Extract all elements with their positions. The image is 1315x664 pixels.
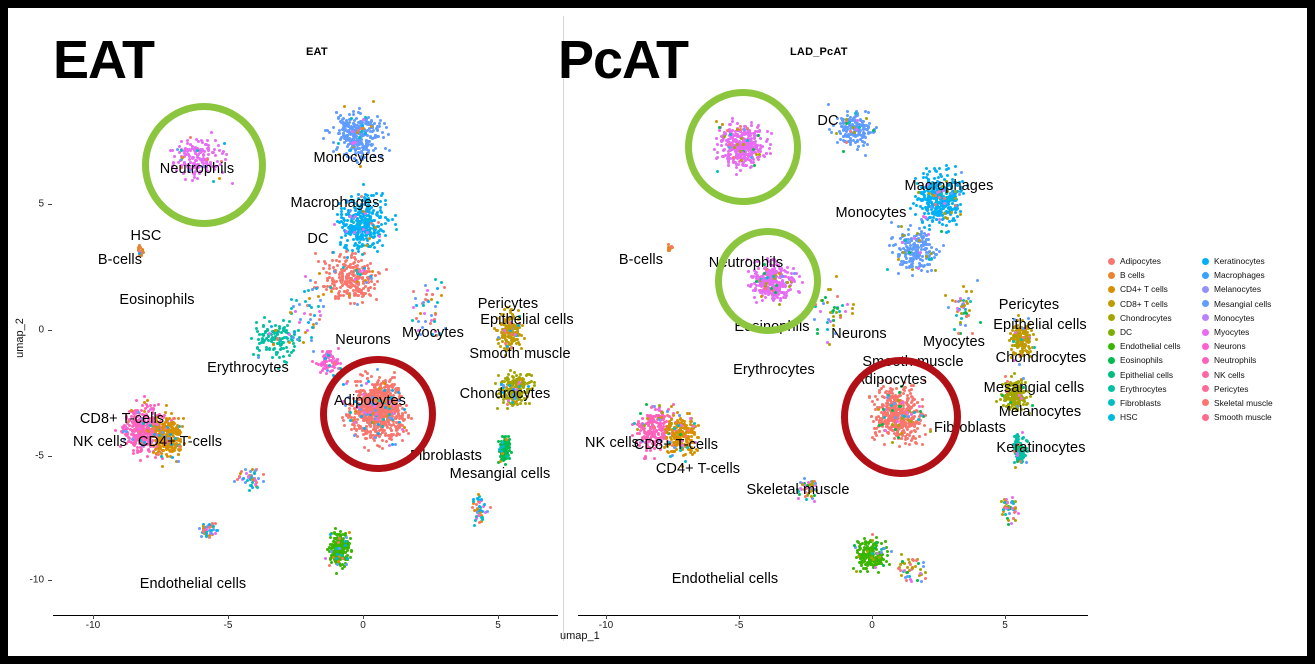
legend-item-label: Melanocytes (1214, 284, 1261, 294)
legend-item[interactable]: B cells (1108, 268, 1206, 282)
legend-item-label: Mesangial cells (1214, 299, 1271, 309)
cell-type-annotation: Smooth muscle (469, 346, 570, 362)
legend-color-dot-icon (1108, 399, 1115, 406)
cell-type-annotation: Pericytes (999, 297, 1060, 313)
legend-item-label: CD4+ T cells (1120, 284, 1168, 294)
panel-pcat-plot-title: LAD_PcAT (790, 46, 848, 58)
legend-item-label: Erythrocytes (1120, 384, 1167, 394)
highlight-circle-neutrophils (142, 103, 266, 227)
cell-type-annotation: B-cells (619, 252, 663, 268)
legend-item[interactable]: CD4+ T cells (1108, 282, 1206, 296)
legend-item-label: CD8+ T cells (1120, 299, 1168, 309)
legend-item-label: Endothelial cells (1120, 341, 1181, 351)
legend-item[interactable]: Adipocytes (1108, 254, 1206, 268)
legend-item[interactable]: Monocytes (1202, 311, 1300, 325)
cell-type-annotation: Chondrocytes (460, 386, 551, 402)
x-axis-title: umap_1 (560, 630, 600, 642)
legend-item[interactable]: Fibroblasts (1108, 396, 1206, 410)
x-tick (739, 615, 740, 619)
cell-type-annotation: Macrophages (905, 178, 994, 194)
legend-item-label: Adipocytes (1120, 256, 1161, 266)
cell-type-annotation: CD8+ T-cells (80, 411, 164, 427)
legend-item[interactable]: DC (1108, 325, 1206, 339)
x-tick (228, 615, 229, 619)
legend-item-label: Chondrocytes (1120, 313, 1172, 323)
x-tick (363, 615, 364, 619)
legend-item[interactable]: Eosinophils (1108, 353, 1206, 367)
x-tick (606, 615, 607, 619)
highlight-circle-adipocytes (320, 356, 436, 472)
legend-item-label: NK cells (1214, 370, 1245, 380)
legend-item-label: Smooth muscle (1214, 412, 1272, 422)
cell-type-annotation: NK cells (73, 434, 127, 450)
cell-type-annotation: Myocytes (923, 334, 985, 350)
y-tick-label: 5 (16, 199, 44, 210)
legend-color-dot-icon (1202, 343, 1209, 350)
legend-column-right: KeratinocytesMacrophagesMelanocytesMesan… (1202, 254, 1300, 424)
legend-item-label: Skeletal muscle (1214, 398, 1273, 408)
cell-type-annotation: Epithelial cells (993, 317, 1086, 333)
pcat-x-axis-line (578, 615, 1088, 616)
legend-item-label: B cells (1120, 270, 1145, 280)
legend-item-label: Neurons (1214, 341, 1246, 351)
cell-type-annotation: CD4+ T-cells (138, 434, 222, 450)
legend-color-dot-icon (1202, 300, 1209, 307)
legend-item[interactable]: Melanocytes (1202, 282, 1300, 296)
legend-item[interactable]: Neutrophils (1202, 353, 1300, 367)
cell-type-annotation: CD8+ T-cells (634, 437, 718, 453)
cell-type-annotation: Erythrocytes (733, 362, 815, 378)
y-tick (48, 330, 52, 331)
cell-type-annotation: Pericytes (478, 296, 539, 312)
legend-item[interactable]: Pericytes (1202, 382, 1300, 396)
x-tick (93, 615, 94, 619)
legend-item-label: Fibroblasts (1120, 398, 1161, 408)
eat-point-cloud (53, 68, 558, 613)
legend-item[interactable]: Skeletal muscle (1202, 396, 1300, 410)
figure-canvas: EAT EAT umap_2 50-5-10 -10-505 Neutrophi… (8, 8, 1307, 656)
eat-x-axis-line (53, 615, 558, 616)
legend-item-label: Neutrophils (1214, 355, 1256, 365)
legend-color-dot-icon (1202, 357, 1209, 364)
x-tick (1005, 615, 1006, 619)
legend-item[interactable]: Smooth muscle (1202, 410, 1300, 424)
legend-item-label: DC (1120, 327, 1132, 337)
legend-item[interactable]: Erythrocytes (1108, 382, 1206, 396)
legend-item[interactable]: NK cells (1202, 368, 1300, 382)
legend-color-dot-icon (1108, 357, 1115, 364)
legend-item[interactable]: Epithelial cells (1108, 368, 1206, 382)
y-tick-label: -10 (16, 575, 44, 586)
legend-color-dot-icon (1202, 258, 1209, 265)
legend-color-dot-icon (1202, 385, 1209, 392)
cell-type-annotation: CD4+ T-cells (656, 461, 740, 477)
x-tick (872, 615, 873, 619)
legend-item[interactable]: HSC (1108, 410, 1206, 424)
legend-item-label: HSC (1120, 412, 1138, 422)
highlight-circle-neutrophils (685, 89, 801, 205)
cell-type-annotation: Epithelial cells (480, 312, 573, 328)
x-tick-label: -5 (224, 620, 233, 631)
legend-item-label: Eosinophils (1120, 355, 1163, 365)
legend-item-label: Monocytes (1214, 313, 1255, 323)
cell-type-annotation: DC (307, 231, 328, 247)
legend-color-dot-icon (1202, 414, 1209, 421)
y-tick (48, 456, 52, 457)
cell-type-annotation: Monocytes (835, 205, 906, 221)
legend-color-dot-icon (1108, 300, 1115, 307)
legend-color-dot-icon (1108, 272, 1115, 279)
legend-item[interactable]: Myocytes (1202, 325, 1300, 339)
cell-type-annotation: Chondrocytes (996, 350, 1087, 366)
highlight-circle-eosinophils (715, 228, 821, 334)
cell-type-annotation: Macrophages (291, 195, 380, 211)
x-tick-label: -5 (735, 620, 744, 631)
x-tick-label: 0 (869, 620, 875, 631)
cell-type-annotation: HSC (131, 228, 162, 244)
legend-color-dot-icon (1108, 343, 1115, 350)
legend-item[interactable]: CD8+ T cells (1108, 297, 1206, 311)
legend-item[interactable]: Macrophages (1202, 268, 1300, 282)
cell-type-annotation: Monocytes (313, 150, 384, 166)
eat-scatter-area (53, 68, 558, 613)
legend-color-dot-icon (1108, 329, 1115, 336)
x-tick-label: 0 (360, 620, 366, 631)
cell-type-annotation: Skeletal muscle (746, 482, 849, 498)
cell-type-annotation: Myocytes (402, 325, 464, 341)
legend-item[interactable]: Mesangial cells (1202, 297, 1300, 311)
cell-type-annotation: NK cells (585, 435, 639, 451)
legend-color-dot-icon (1202, 399, 1209, 406)
legend-color-dot-icon (1202, 272, 1209, 279)
legend-item[interactable]: Chondrocytes (1108, 311, 1206, 325)
legend-color-dot-icon (1202, 329, 1209, 336)
y-tick-label: 0 (16, 325, 44, 336)
legend-color-dot-icon (1108, 258, 1115, 265)
legend-color-dot-icon (1108, 371, 1115, 378)
legend-item-label: Macrophages (1214, 270, 1265, 280)
y-tick (48, 580, 52, 581)
cell-type-annotation: Neurons (831, 326, 887, 342)
cell-type-annotation: Erythrocytes (207, 360, 289, 376)
legend-item-label: Pericytes (1214, 384, 1248, 394)
legend-color-dot-icon (1108, 286, 1115, 293)
y-tick (48, 204, 52, 205)
legend-color-dot-icon (1108, 385, 1115, 392)
cell-type-annotation: Melanocytes (999, 404, 1082, 420)
panel-pcat: PcAT LAD_PcAT -10-505 umap_1 DCMacrophag… (568, 8, 1098, 656)
y-tick-label: -5 (16, 451, 44, 462)
x-tick-label: 5 (495, 620, 501, 631)
legend-color-dot-icon (1202, 314, 1209, 321)
x-tick (498, 615, 499, 619)
legend-item[interactable]: Endothelial cells (1108, 339, 1206, 353)
cell-type-annotation: Endothelial cells (672, 571, 779, 587)
x-tick-label: 5 (1002, 620, 1008, 631)
cell-type-annotation: B-cells (98, 252, 142, 268)
panel-eat-plot-title: EAT (306, 46, 328, 58)
x-tick-label: -10 (86, 620, 100, 631)
cell-type-annotation: DC (817, 113, 838, 129)
legend-item-label: Epithelial cells (1120, 370, 1173, 380)
legend-column-left: AdipocytesB cellsCD4+ T cellsCD8+ T cell… (1108, 254, 1206, 424)
cell-type-annotation: Endothelial cells (140, 576, 247, 592)
legend-item-label: Myocytes (1214, 327, 1249, 337)
cell-type-legend: AdipocytesB cellsCD4+ T cellsCD8+ T cell… (1108, 254, 1307, 436)
x-tick-label: -10 (599, 620, 613, 631)
highlight-circle-adipocytes (841, 357, 961, 477)
legend-color-dot-icon (1108, 314, 1115, 321)
legend-item-label: Keratinocytes (1214, 256, 1265, 266)
cell-type-annotation: Eosinophils (119, 292, 194, 308)
cell-type-annotation: Keratinocytes (996, 440, 1085, 456)
legend-color-dot-icon (1202, 286, 1209, 293)
panel-eat: EAT EAT umap_2 50-5-10 -10-505 Neutrophi… (8, 8, 568, 656)
legend-item[interactable]: Keratinocytes (1202, 254, 1300, 268)
cell-type-annotation: Neurons (335, 332, 391, 348)
cell-type-annotation: Mesangial cells (984, 380, 1085, 396)
cell-type-annotation: Mesangial cells (450, 466, 551, 482)
legend-item[interactable]: Neurons (1202, 339, 1300, 353)
legend-color-dot-icon (1202, 371, 1209, 378)
legend-color-dot-icon (1108, 414, 1115, 421)
